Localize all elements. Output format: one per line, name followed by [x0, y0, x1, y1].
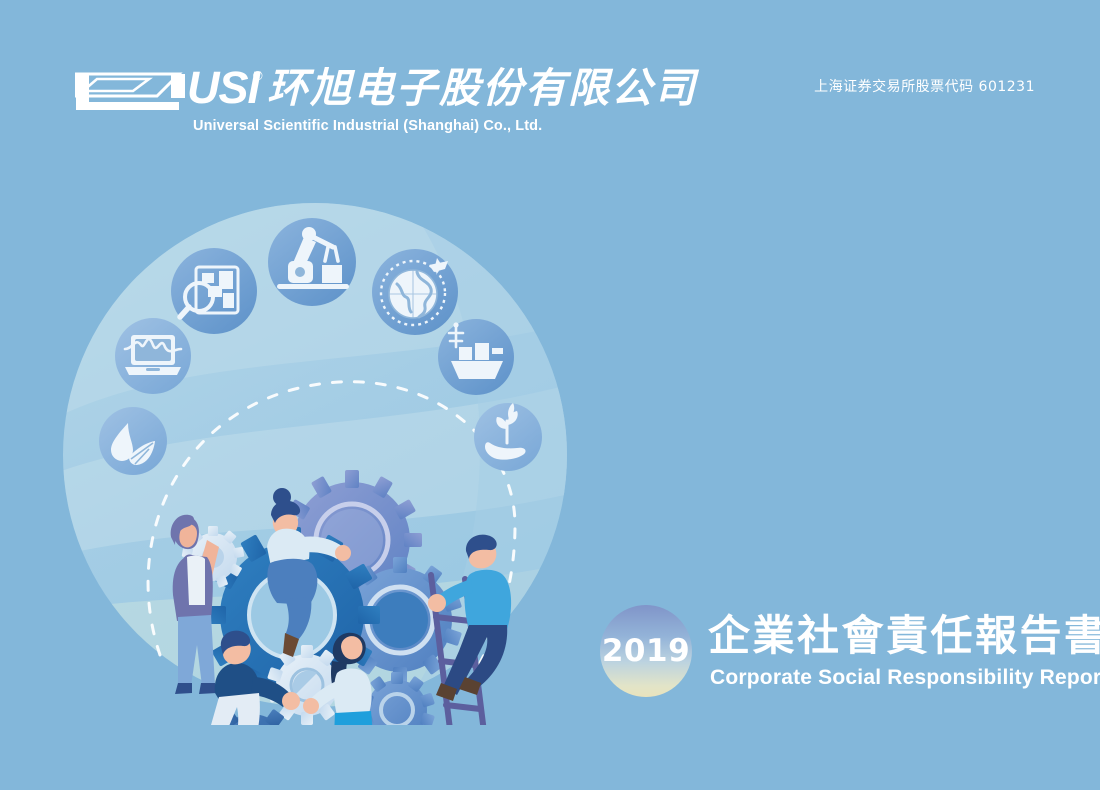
usi-chevron-mark-icon — [75, 68, 197, 116]
laptop-waveform-icon — [115, 318, 191, 394]
stock-code-text: 上海证券交易所股票代码 601231 — [814, 76, 1035, 96]
company-name-en: Universal Scientific Industrial (Shangha… — [193, 118, 542, 134]
teamwork-gears-illustration — [45, 185, 585, 725]
cargo-ship-icon — [438, 319, 514, 395]
robot-arm-icon — [268, 218, 356, 306]
logo-acronym: USI — [187, 64, 259, 112]
year-badge: 2019 — [600, 605, 692, 697]
company-name-cn: 环旭电子股份有限公司 — [267, 62, 697, 114]
cover-page: USI ® 环旭电子股份有限公司 Universal Scientific In… — [0, 0, 1100, 790]
report-title-cn: 企業社會責任報告書 — [708, 612, 1100, 660]
magnifier-chart-icon — [171, 248, 257, 334]
registered-symbol: ® — [253, 68, 263, 83]
globe-airplane-icon — [372, 249, 458, 335]
report-title-block: 2019 企業社會責任報告書 Corporate Social Responsi… — [600, 602, 1060, 702]
water-drop-leaf-icon — [99, 407, 167, 475]
year-label: 2019 — [602, 636, 690, 667]
company-logo: USI ® 环旭电子股份有限公司 Universal Scientific In… — [75, 66, 505, 136]
hand-plant-icon — [474, 403, 542, 471]
report-title-en: Corporate Social Responsibility Report — [710, 666, 1100, 690]
